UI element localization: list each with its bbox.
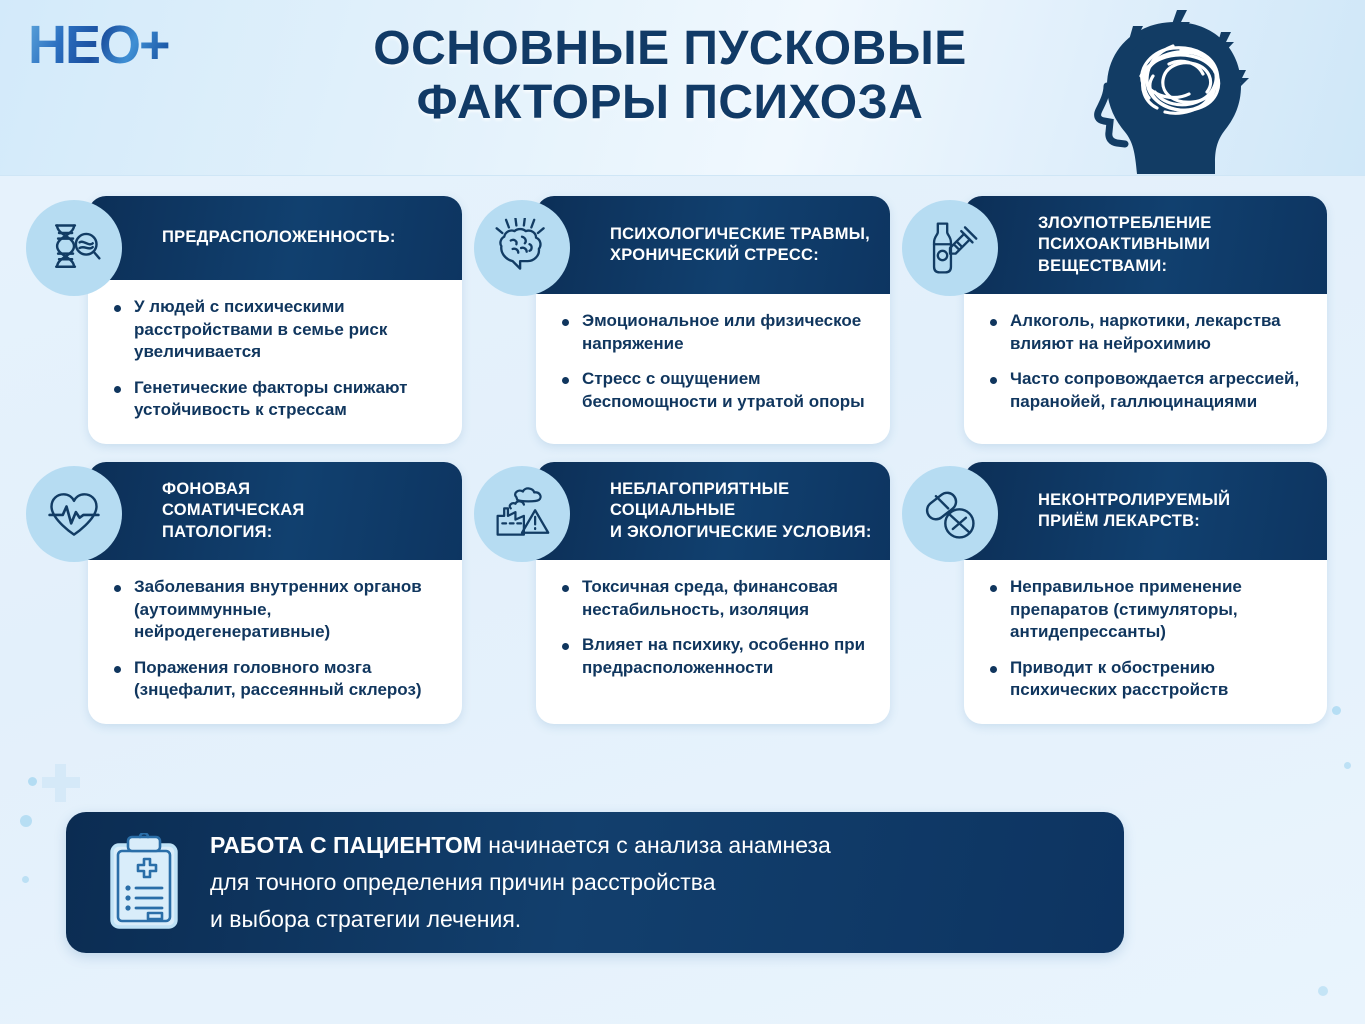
card-title-line: ПРИЁМ ЛЕКАРСТВ: [1038,511,1230,532]
title-line-1: ОСНОВНЫЕ ПУСКОВЫЕ [300,22,1040,76]
card-title-line: СОЦИАЛЬНЫЕ [610,500,872,521]
card-slot: ФОНОВАЯ СОМАТИЧЕСКАЯ ПАТОЛОГИЯ: Заболева… [26,462,474,724]
bullet-list: Неправильное применение препаратов (стим… [986,576,1309,702]
card-header: НЕБЛАГОПРИЯТНЫЕ СОЦИАЛЬНЫЕ И ЭКОЛОГИЧЕСК… [536,462,890,560]
pills-icon [902,466,998,562]
card-title: ПРЕДРАСПОЛОЖЕННОСТЬ: [162,227,396,248]
card-header: ЗЛОУПОТРЕБЛЕНИЕ ПСИХОАКТИВНЫМИ ВЕЩЕСТВАМ… [964,196,1327,294]
list-item: Часто сопровождается агрессией, паранойе… [986,368,1309,413]
card-slot: ЗЛОУПОТРЕБЛЕНИЕ ПСИХОАКТИВНЫМИ ВЕЩЕСТВАМ… [902,196,1339,444]
list-item: Эмоциональное или физическое напряжение [558,310,872,355]
deco-dot [1318,986,1328,996]
card-psychological-trauma: ПСИХОЛОГИЧЕСКИЕ ТРАВМЫ, ХРОНИЧЕСКИЙ СТРЕ… [536,196,890,444]
heart-pulse-icon [26,466,122,562]
bullet-list: Алкоголь, наркотики, лекарства влияют на… [986,310,1309,413]
card-title: ЗЛОУПОТРЕБЛЕНИЕ ПСИХОАКТИВНЫМИ ВЕЩЕСТВАМ… [1038,213,1212,276]
card-social-ecological: НЕБЛАГОПРИЯТНЫЕ СОЦИАЛЬНЫЕ И ЭКОЛОГИЧЕСК… [536,462,890,724]
bullet-list: Эмоциональное или физическое напряжение … [558,310,872,413]
bullet-list: Токсичная среда, финансовая нестабильнос… [558,576,872,679]
card-slot: НЕКОНТРОЛИРУЕМЫЙ ПРИЁМ ЛЕКАРСТВ: Неправи… [902,462,1339,724]
title-line-2: ФАКТОРЫ ПСИХОЗА [300,76,1040,130]
card-title: ФОНОВАЯ СОМАТИЧЕСКАЯ ПАТОЛОГИЯ: [162,479,304,542]
card-title-line: НЕБЛАГОПРИЯТНЫЕ [610,479,872,500]
list-item: Влияет на психику, особенно при предрасп… [558,634,872,679]
card-title-line: СОМАТИЧЕСКАЯ [162,500,304,521]
banner-line-1: РАБОТА С ПАЦИЕНТОМ начинается с анализа … [210,827,831,864]
deco-dot [28,777,37,786]
card-header: ФОНОВАЯ СОМАТИЧЕСКАЯ ПАТОЛОГИЯ: [88,462,462,560]
card-title-line: НЕКОНТРОЛИРУЕМЫЙ [1038,490,1230,511]
list-item: Приводит к обострению психических расстр… [986,657,1309,702]
card-title-line: И ЭКОЛОГИЧЕСКИЕ УСЛОВИЯ: [610,522,872,543]
deco-dot [22,876,29,883]
bullet-list: Заболевания внутренних органов (аутоимму… [110,576,444,702]
card-slot: НЕБЛАГОПРИЯТНЫЕ СОЦИАЛЬНЫЕ И ЭКОЛОГИЧЕСК… [474,462,902,724]
list-item: Генетические факторы снижают устойчивост… [110,377,444,422]
card-title-line: ФОНОВАЯ [162,479,304,500]
card-title: НЕКОНТРОЛИРУЕМЫЙ ПРИЁМ ЛЕКАРСТВ: [1038,490,1230,532]
page-header: НЕО+ ОСНОВНЫЕ ПУСКОВЫЕ ФАКТОРЫ ПСИХОЗА [0,0,1365,176]
factors-grid: ПРЕДРАСПОЛОЖЕННОСТЬ: У людей с психическ… [26,196,1339,724]
card-body: Токсичная среда, финансовая нестабильнос… [536,560,890,697]
brand-logo: НЕО+ [28,16,198,74]
list-item: Токсичная среда, финансовая нестабильнос… [558,576,872,621]
factory-warning-icon [474,466,570,562]
card-title: ПСИХОЛОГИЧЕСКИЕ ТРАВМЫ, ХРОНИЧЕСКИЙ СТРЕ… [610,224,870,266]
banner-line-3: и выбора стратегии лечения. [210,901,831,938]
card-title-line: ПСИХОЛОГИЧЕСКИЕ ТРАВМЫ, [610,224,870,245]
bottom-banner: РАБОТА С ПАЦИЕНТОМ начинается с анализа … [66,812,1124,953]
card-predisposition: ПРЕДРАСПОЛОЖЕННОСТЬ: У людей с психическ… [88,196,462,444]
card-somatic-pathology: ФОНОВАЯ СОМАТИЧЕСКАЯ ПАТОЛОГИЯ: Заболева… [88,462,462,724]
card-substance-abuse: ЗЛОУПОТРЕБЛЕНИЕ ПСИХОАКТИВНЫМИ ВЕЩЕСТВАМ… [964,196,1327,444]
card-title-line: ПРЕДРАСПОЛОЖЕННОСТЬ: [162,227,396,248]
list-item: Поражения головного мозга (знцефалит, ра… [110,657,444,702]
head-with-tangled-brain-icon [1077,2,1327,176]
card-title-line: ВЕЩЕСТВАМИ: [1038,256,1212,277]
card-body: У людей с психическими расстройствами в … [88,280,462,440]
infographic-page: НЕО+ ОСНОВНЫЕ ПУСКОВЫЕ ФАКТОРЫ ПСИХОЗА [0,0,1365,1024]
list-item: Заболевания внутренних органов (аутоимму… [110,576,444,644]
card-title-line: ПСИХОАКТИВНЫМИ [1038,234,1212,255]
card-header: ПРЕДРАСПОЛОЖЕННОСТЬ: [88,196,462,280]
card-title-line: ХРОНИЧЕСКИЙ СТРЕСС: [610,245,870,266]
bottle-syringe-icon [902,200,998,296]
card-header: НЕКОНТРОЛИРУЕМЫЙ ПРИЁМ ЛЕКАРСТВ: [964,462,1327,560]
dna-magnifier-icon [26,200,122,296]
card-title: НЕБЛАГОПРИЯТНЫЕ СОЦИАЛЬНЫЕ И ЭКОЛОГИЧЕСК… [610,479,872,542]
card-title-line: ПАТОЛОГИЯ: [162,522,304,543]
list-item: Неправильное применение препаратов (стим… [986,576,1309,644]
banner-line-2: для точного определения причин расстройс… [210,864,831,901]
deco-dot [20,815,32,827]
deco-dot [1344,762,1351,769]
card-body: Эмоциональное или физическое напряжение … [536,294,890,431]
clipboard-medical-icon [100,833,188,933]
card-body: Заболевания внутренних органов (аутоимму… [88,560,462,720]
list-item: У людей с психическими расстройствами в … [110,296,444,364]
card-uncontrolled-medication: НЕКОНТРОЛИРУЕМЫЙ ПРИЁМ ЛЕКАРСТВ: Неправи… [964,462,1327,724]
card-body: Неправильное применение препаратов (стим… [964,560,1327,720]
stressed-brain-icon [474,200,570,296]
card-slot: ПРЕДРАСПОЛОЖЕННОСТЬ: У людей с психическ… [26,196,474,444]
list-item: Алкоголь, наркотики, лекарства влияют на… [986,310,1309,355]
card-slot: ПСИХОЛОГИЧЕСКИЕ ТРАВМЫ, ХРОНИЧЕСКИЙ СТРЕ… [474,196,902,444]
banner-bold-lead: РАБОТА С ПАЦИЕНТОМ [210,832,482,858]
list-item: Стресс с ощущением беспомощности и утрат… [558,368,872,413]
card-title-line: ЗЛОУПОТРЕБЛЕНИЕ [1038,213,1212,234]
banner-line-1-rest: начинается с анализа анамнеза [482,832,831,858]
card-body: Алкоголь, наркотики, лекарства влияют на… [964,294,1327,431]
card-header: ПСИХОЛОГИЧЕСКИЕ ТРАВМЫ, ХРОНИЧЕСКИЙ СТРЕ… [536,196,890,294]
banner-text: РАБОТА С ПАЦИЕНТОМ начинается с анализа … [210,827,831,939]
bullet-list: У людей с психическими расстройствами в … [110,296,444,422]
deco-plus-icon [42,764,80,802]
page-title: ОСНОВНЫЕ ПУСКОВЫЕ ФАКТОРЫ ПСИХОЗА [300,22,1040,130]
